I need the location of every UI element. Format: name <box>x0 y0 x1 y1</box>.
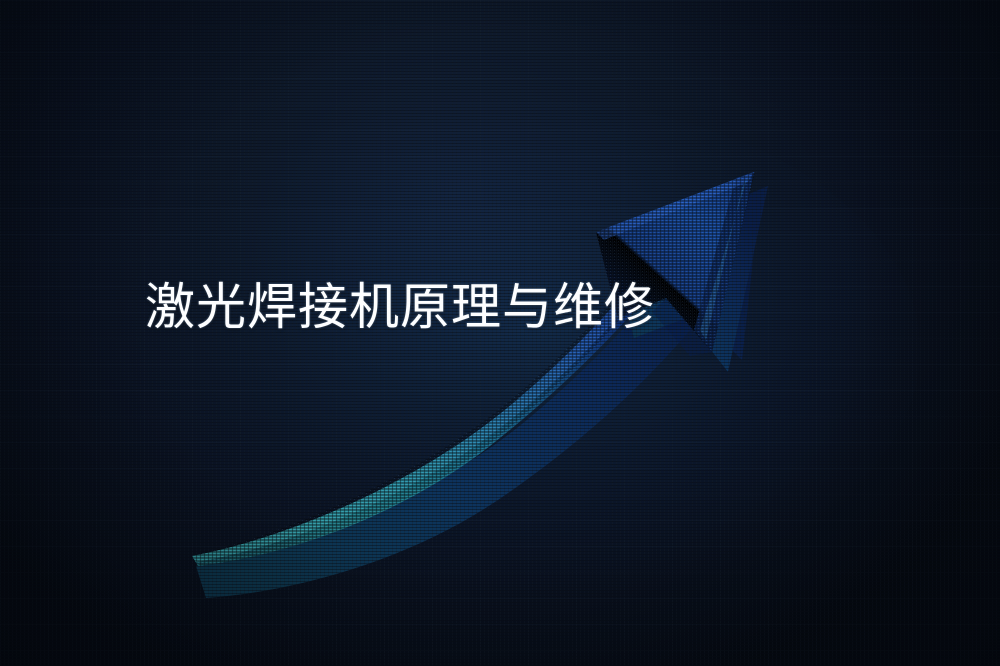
rising-arrow-artwork <box>0 0 1000 666</box>
arrow-glow <box>120 100 920 600</box>
hero-banner: 激光焊接机原理与维修 <box>0 0 1000 666</box>
